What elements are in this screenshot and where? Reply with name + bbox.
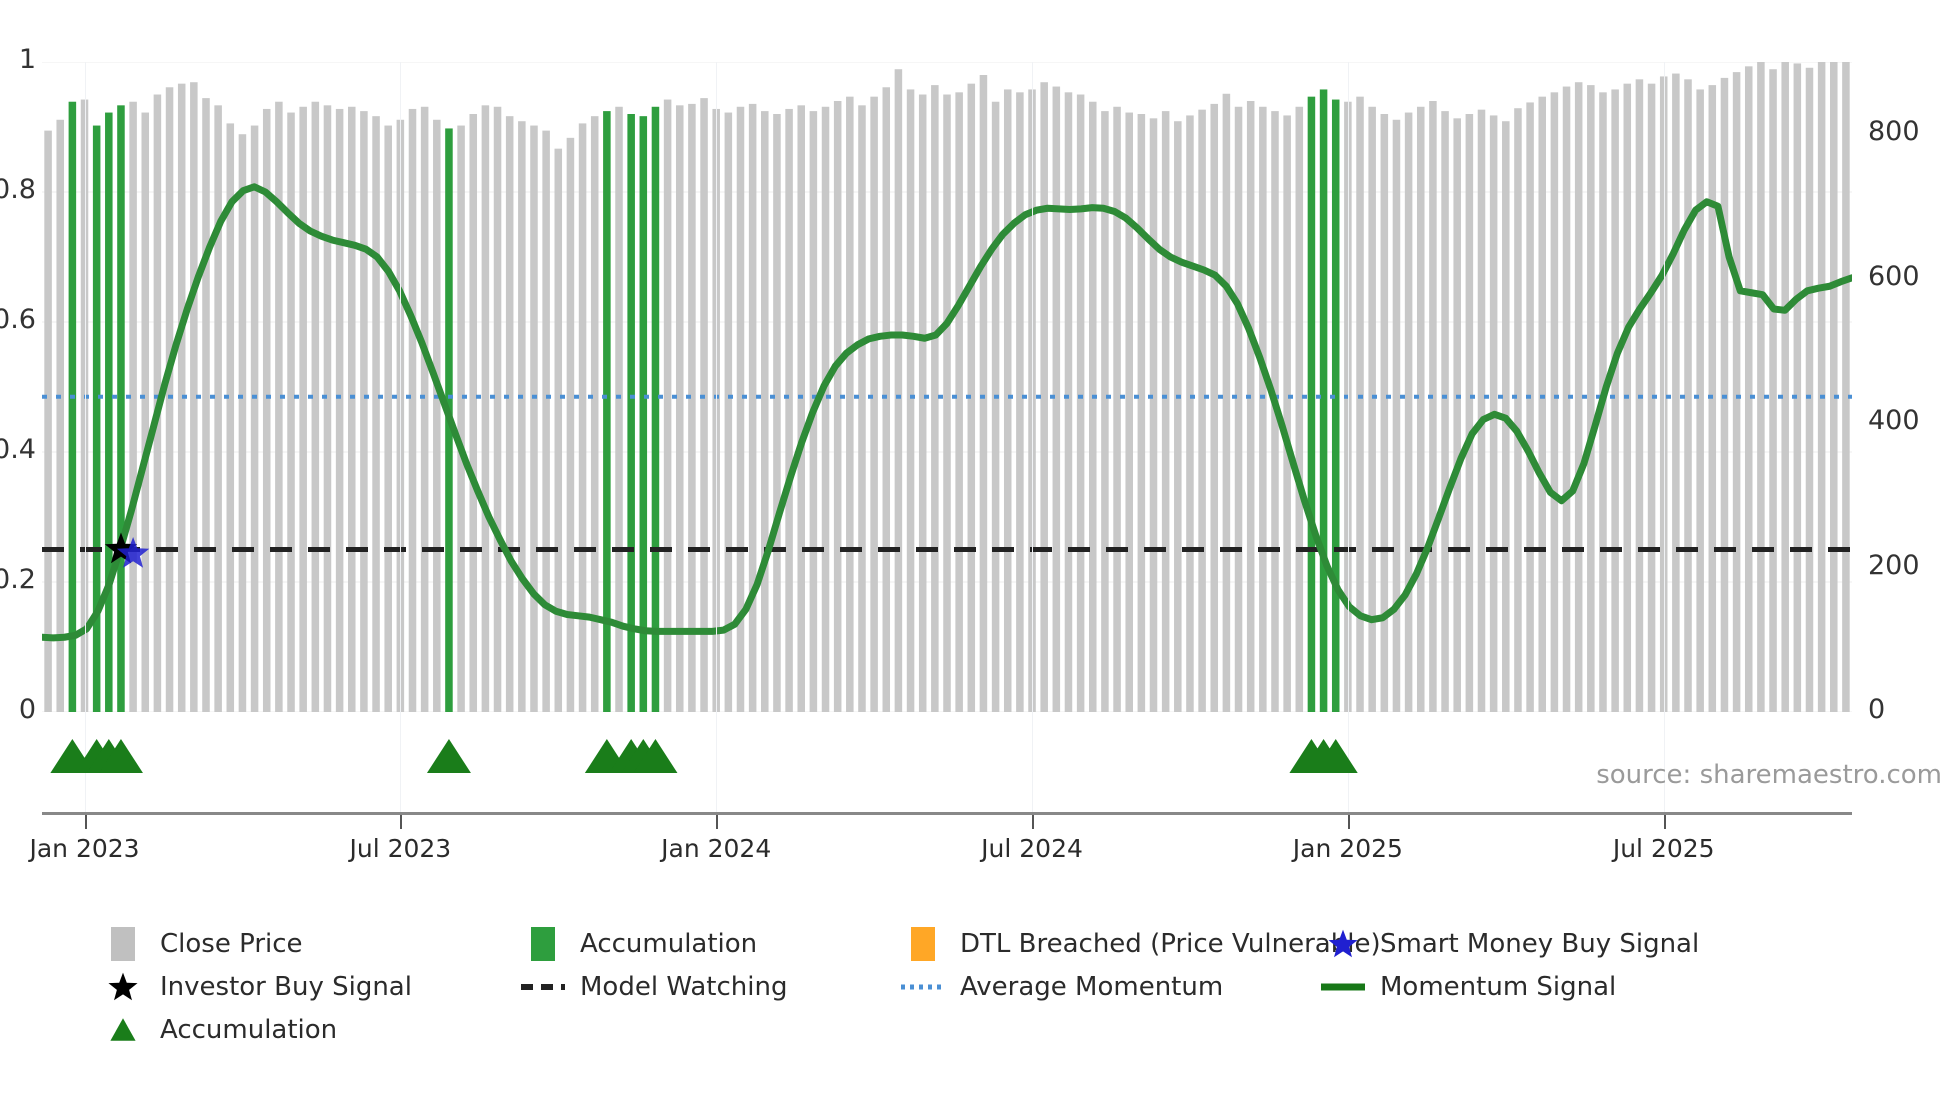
x-gridline: [1348, 62, 1349, 812]
line-sample-icon: [900, 970, 946, 1004]
close-price-bar: [287, 113, 295, 712]
close-price-bar: [773, 114, 781, 712]
accumulation-bar: [93, 126, 101, 712]
square-swatch-icon: [111, 927, 135, 961]
close-price-bar: [360, 111, 368, 712]
line-sample-icon: [1320, 970, 1366, 1004]
accumulation-bar: [117, 105, 125, 712]
close-price-bar: [822, 107, 830, 712]
close-price-bar: [1381, 114, 1389, 712]
legend-item-label: Close Price: [160, 929, 303, 959]
close-price-bar: [725, 113, 733, 712]
close-price-bar: [700, 98, 708, 712]
close-price-bar: [858, 105, 866, 712]
close-price-bar: [1696, 89, 1704, 712]
close-price-bar: [1283, 115, 1291, 712]
x-axis-tick-label: Jan 2025: [1293, 834, 1403, 863]
x-gridline: [1664, 62, 1665, 812]
close-price-bar: [494, 107, 502, 712]
accumulation-bar: [1320, 89, 1328, 712]
close-price-bar: [761, 111, 769, 712]
close-price-bar: [44, 131, 52, 712]
close-price-bar: [506, 116, 514, 712]
y-axis-right-tick: 600: [1868, 261, 1920, 292]
legend-item-label: Average Momentum: [960, 972, 1223, 1002]
close-price-bar: [1830, 62, 1838, 712]
close-price-bar: [518, 121, 526, 712]
accumulation-triangle-marker[interactable]: [427, 739, 471, 773]
close-price-bar: [931, 85, 939, 712]
close-price-bar: [348, 107, 356, 712]
accumulation-bar: [105, 113, 113, 712]
legend-row: Close PriceAccumulationDTL Breached (Pri…: [100, 925, 1940, 963]
close-price-bar: [1065, 92, 1073, 712]
x-axis-tick-mark: [1664, 815, 1666, 829]
close-price-bar: [1587, 85, 1595, 712]
close-price-bar: [530, 126, 538, 712]
close-price-bar: [1174, 121, 1182, 712]
close-price-bar: [1453, 118, 1461, 712]
legend-item[interactable]: DTL Breached (Price Vulnerable): [900, 927, 1381, 961]
close-price-bar: [1769, 69, 1777, 712]
x-axis-tick-mark: [716, 815, 718, 829]
close-price-bar: [555, 149, 563, 712]
close-price-bar: [421, 107, 429, 712]
x-gridline: [400, 62, 401, 812]
x-gridline: [716, 62, 717, 812]
accumulation-bar: [1308, 97, 1316, 712]
close-price-bar: [1733, 72, 1741, 712]
close-price-bar: [1296, 107, 1304, 712]
close-price-bar: [239, 134, 247, 712]
y-axis-left-tick: 0: [19, 694, 36, 725]
legend-item-label: DTL Breached (Price Vulnerable): [960, 929, 1381, 959]
close-price-bar: [1162, 111, 1170, 712]
close-price-bar: [785, 109, 793, 712]
star-icon: [1320, 927, 1366, 961]
close-price-bar: [664, 100, 672, 712]
close-price-bar: [166, 87, 174, 712]
close-price-bar: [943, 95, 951, 713]
legend-item-label: Accumulation: [580, 929, 757, 959]
x-axis-line: [42, 812, 1852, 815]
star-icon: [108, 973, 137, 1001]
chart-canvas: [42, 62, 1852, 712]
close-price-bar: [1794, 63, 1802, 712]
legend-item-label: Smart Money Buy Signal: [1380, 929, 1699, 959]
legend-row: Investor Buy SignalModel WatchingAverage…: [100, 968, 1940, 1006]
star-icon: [1328, 930, 1357, 958]
line-sample-icon: [520, 970, 566, 1004]
close-price-bar: [1745, 66, 1753, 712]
close-price-bar: [1138, 114, 1146, 712]
close-price-bar: [1538, 97, 1546, 712]
y-axis-left-tick: 0.6: [0, 304, 36, 335]
close-price-bar: [56, 120, 64, 712]
close-price-bar: [1781, 62, 1789, 712]
close-price-bar: [1223, 94, 1231, 712]
triangle-icon: [110, 1018, 135, 1041]
close-price-bar: [1210, 104, 1218, 712]
x-axis-tick-mark: [1348, 815, 1350, 829]
close-price-bar: [1757, 62, 1765, 712]
close-price-bar: [1514, 108, 1522, 712]
accumulation-bar: [640, 116, 648, 712]
chart-root: 00.20.40.60.81 0200400600800 Jan 2023Jul…: [0, 0, 1960, 1102]
close-price-bar: [1235, 107, 1243, 712]
close-price-bar: [591, 116, 599, 712]
close-price-bar: [992, 102, 1000, 712]
legend-item[interactable]: Momentum Signal: [1320, 970, 1616, 1004]
close-price-bar: [457, 126, 465, 712]
legend-item[interactable]: Accumulation: [100, 1013, 337, 1047]
close-price-bar: [749, 104, 757, 712]
accumulation-bar: [1332, 100, 1340, 712]
close-price-bar: [955, 92, 963, 712]
x-axis-tick-label: Jul 2025: [1613, 834, 1715, 863]
close-price-bar: [251, 126, 259, 712]
close-price-bar: [469, 114, 477, 712]
close-price-bar: [1053, 87, 1061, 712]
legend-item[interactable]: Model Watching: [520, 970, 787, 1004]
y-axis-left-tick: 1: [19, 44, 36, 75]
y-axis-left-tick: 0.8: [0, 174, 36, 205]
accumulation-bar: [627, 114, 635, 712]
close-price-bar: [1004, 89, 1012, 712]
y-axis-right-tick: 400: [1868, 405, 1920, 436]
close-price-bar: [1672, 74, 1680, 712]
close-price-bar: [299, 107, 307, 712]
close-price-bar: [579, 123, 587, 712]
legend-item-label: Accumulation: [160, 1015, 337, 1045]
close-price-bar: [1405, 113, 1413, 712]
close-price-bar: [1089, 102, 1097, 712]
close-price-bar: [202, 98, 210, 712]
close-price-bar: [1150, 118, 1158, 712]
close-price-bar: [1478, 110, 1486, 712]
close-price-bar: [1259, 107, 1267, 712]
star-icon: [100, 970, 146, 1004]
legend-item-label: Momentum Signal: [1380, 972, 1616, 1002]
legend-item-label: Investor Buy Signal: [160, 972, 412, 1002]
legend-item[interactable]: Investor Buy Signal: [100, 970, 412, 1004]
close-price-bar: [567, 138, 575, 712]
x-gridline: [1032, 62, 1033, 812]
legend-swatch-icon: [520, 927, 566, 961]
close-price-bar: [482, 105, 490, 712]
close-price-bar: [1818, 62, 1826, 712]
accumulation-bar: [652, 107, 660, 712]
close-price-bar: [1417, 107, 1425, 712]
legend-item[interactable]: Close Price: [100, 927, 303, 961]
plot-area: [42, 62, 1852, 712]
close-price-bar: [1842, 62, 1850, 712]
close-price-bar: [1247, 101, 1255, 712]
close-price-bar: [1016, 92, 1024, 712]
y-axis-right-tick: 200: [1868, 550, 1920, 581]
close-price-bar: [1466, 114, 1474, 712]
close-price-bar: [1575, 82, 1583, 712]
close-price-bar: [919, 95, 927, 713]
close-price-bar: [409, 109, 417, 712]
close-price-bar: [275, 102, 283, 712]
legend-item[interactable]: Smart Money Buy Signal: [1320, 927, 1699, 961]
close-price-bar: [1684, 79, 1692, 712]
close-price-bar: [1611, 89, 1619, 712]
close-price-bar: [1563, 87, 1571, 712]
close-price-bar: [336, 109, 344, 712]
y-axis-right-tick: 0: [1868, 694, 1885, 725]
close-price-bar: [214, 105, 222, 712]
close-price-bar: [312, 102, 320, 712]
close-price-bar: [324, 105, 332, 712]
x-axis-tick-mark: [1032, 815, 1034, 829]
square-swatch-icon: [531, 927, 555, 961]
close-price-bar: [433, 120, 441, 712]
close-price-bar: [1551, 92, 1559, 712]
close-price-bar: [834, 101, 842, 712]
x-axis-tick-label: Jan 2023: [29, 834, 139, 863]
x-axis-tick-label: Jul 2023: [349, 834, 451, 863]
y-axis-left-tick: 0.4: [0, 434, 36, 465]
close-price-bar: [870, 97, 878, 712]
close-price-bar: [1429, 101, 1437, 712]
x-axis-tick-mark: [85, 815, 87, 829]
y-axis-left-tick: 0.2: [0, 564, 36, 595]
close-price-bar: [1526, 102, 1534, 712]
close-price-bar: [797, 105, 805, 712]
close-price-bar: [384, 126, 392, 712]
close-price-bar: [907, 89, 915, 712]
close-price-bar: [1393, 120, 1401, 712]
legend-swatch-icon: [100, 927, 146, 961]
close-price-bars: [44, 62, 1849, 712]
square-swatch-icon: [911, 927, 935, 961]
y-axis-right-tick: 800: [1868, 116, 1920, 147]
close-price-bar: [1806, 68, 1814, 712]
close-price-bar: [129, 102, 137, 712]
close-price-bar: [1077, 95, 1085, 713]
close-price-bar: [1186, 115, 1194, 712]
close-price-bar: [1113, 107, 1121, 712]
close-price-bar: [141, 113, 149, 712]
close-price-bar: [676, 105, 684, 712]
chart-legend: Close PriceAccumulationDTL Breached (Pri…: [100, 925, 1940, 1054]
x-axis-tick-mark: [400, 815, 402, 829]
close-price-bar: [980, 75, 988, 712]
close-price-bar: [846, 97, 854, 712]
close-price-bar: [542, 131, 550, 712]
accumulation-bar: [69, 102, 77, 712]
close-price-bar: [1441, 111, 1449, 712]
legend-swatch-icon: [900, 927, 946, 961]
x-gridline: [85, 62, 86, 812]
triangle-icon: [100, 1013, 146, 1047]
legend-item[interactable]: Average Momentum: [900, 970, 1223, 1004]
close-price-bar: [895, 69, 903, 712]
accumulation-marker-row: [42, 725, 1852, 785]
close-price-bar: [882, 87, 890, 712]
legend-item-label: Model Watching: [580, 972, 787, 1002]
close-price-bar: [688, 104, 696, 712]
x-axis-tick-label: Jul 2024: [981, 834, 1083, 863]
close-price-bar: [1198, 110, 1206, 712]
x-axis-tick-label: Jan 2024: [661, 834, 771, 863]
close-price-bar: [1101, 111, 1109, 712]
legend-row: Accumulation: [100, 1011, 1940, 1049]
close-price-bar: [1125, 113, 1133, 712]
close-price-bar: [372, 116, 380, 712]
legend-item[interactable]: Accumulation: [520, 927, 757, 961]
close-price-bar: [1040, 82, 1048, 712]
